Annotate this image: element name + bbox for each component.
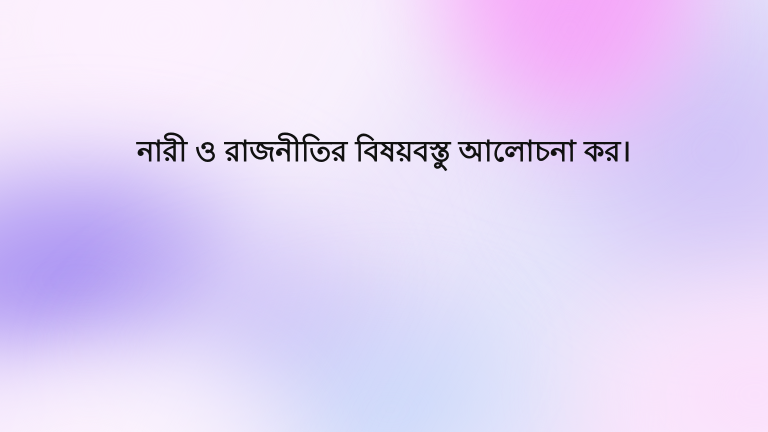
headline-container: নারী ও রাজনীতির বিষয়বস্তু আলোচনা কর।	[0, 134, 768, 171]
background-diagonal-sheen	[0, 0, 768, 432]
banner-canvas: নারী ও রাজনীতির বিষয়বস্তু আলোচনা কর।	[0, 0, 768, 432]
headline-text: নারী ও রাজনীতির বিষয়বস্তু আলোচনা কর।	[137, 134, 631, 171]
